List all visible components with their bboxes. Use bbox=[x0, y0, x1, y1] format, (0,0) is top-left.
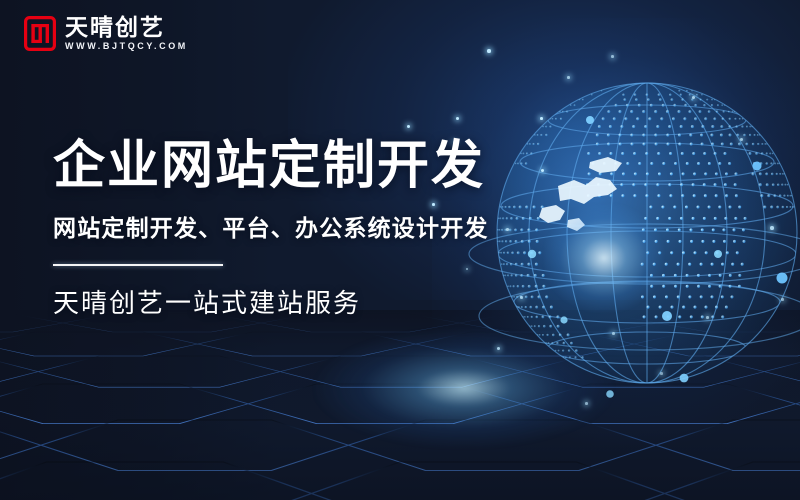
copy-block: 企业网站定制开发 网站定制开发、平台、办公系统设计开发 天晴创艺一站式建站服务 bbox=[53, 138, 573, 319]
logo-text-block: 天晴创艺 WWW.BJTQCY.COM bbox=[65, 16, 188, 51]
logo-mark-icon bbox=[24, 16, 56, 51]
subheadline: 网站定制开发、平台、办公系统设计开发 bbox=[53, 214, 573, 243]
logo-website-url: WWW.BJTQCY.COM bbox=[65, 42, 188, 51]
site-logo[interactable]: 天晴创艺 WWW.BJTQCY.COM bbox=[24, 16, 188, 51]
divider-rule bbox=[53, 264, 223, 266]
tagline: 天晴创艺一站式建站服务 bbox=[53, 287, 573, 320]
logo-mark-svg bbox=[24, 16, 56, 51]
logo-company-name: 天晴创艺 bbox=[65, 16, 188, 39]
promo-banner: 天晴创艺 WWW.BJTQCY.COM 企业网站定制开发 网站定制开发、平台、办… bbox=[0, 0, 800, 500]
headline: 企业网站定制开发 bbox=[53, 138, 573, 196]
